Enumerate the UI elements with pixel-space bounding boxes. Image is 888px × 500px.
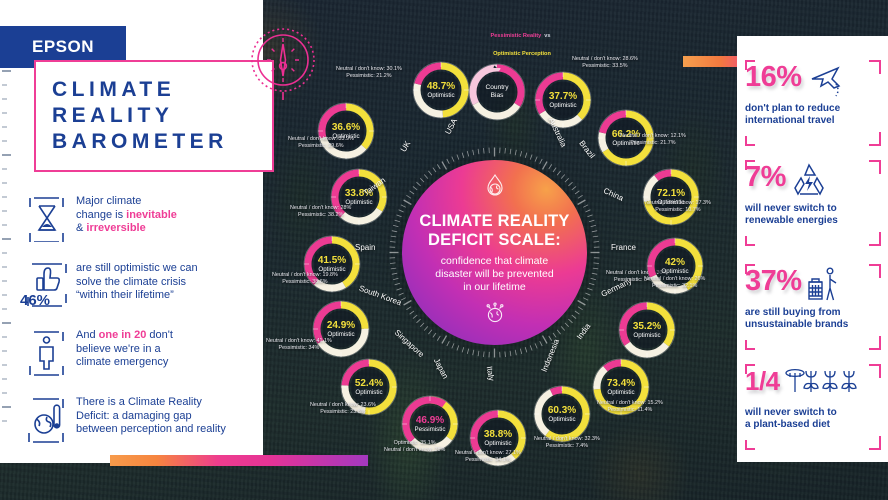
stat-value: 37% [745,264,802,298]
gauge-italy-stat-1: Neutral / don't know: 27.1% [455,450,521,456]
list-item-text: There is a Climate Reality Deficit: a da… [76,393,226,437]
list-item-text: Major climate change is inevitable & irr… [76,192,177,236]
stat-desc-line-1: don't plan to reduce [745,103,840,114]
gauge-uk-stats: Neutral / don't know: 33.9%Pessimistic: … [288,136,354,150]
gauge-southkorea-stats: Neutral / don't know: 41.1%Pessimistic: … [266,338,332,352]
gauge-usa-stat-2: Pessimistic: 21.2% [346,73,391,79]
list-item: And one in 20 don't believe we're in a c… [18,326,262,378]
list-item: Major climate change is inevitable & irr… [18,192,262,244]
gauge-china-stat-2: Pessimistic: 10.7% [655,207,700,213]
stat-value: 16% [745,60,802,94]
gauge-australia-stats: Neutral / don't know: 28.6%Pessimistic: … [572,56,638,70]
bullet4-line3: between perception and reality [76,423,226,435]
climate-reality-deficit-scale: CLIMATE REALITY DEFICIT SCALE: confidenc… [402,160,587,345]
gauge-uk-stat-2: Pessimistic: 29.6% [298,143,343,149]
gauge-brazil-stat-2: Pessimistic: 21.7% [630,140,675,146]
person-icon [18,326,76,378]
gauge-usa-stat-1: Neutral / don't know: 30.1% [336,66,402,72]
gauge-indonesia-stat-2: Pessimistic: 7.4% [546,443,588,449]
thumbs-up-icon: 46% [18,259,76,311]
title-line-3: BAROMETER [52,129,272,155]
stat-desc-line-2: international travel [745,115,834,126]
stat-description: will never switch to a plant-based diet [745,407,881,432]
title-line-2: REALITY [52,103,272,129]
page-title: CLIMATE REALITY BAROMETER [34,60,274,172]
gauge-spain-stats: Neutral / don't know: 19.8%Pessimistic: … [272,272,338,286]
stat-card-diet: 1/4 will never switch to a [745,364,881,450]
earth-flame-icon [484,174,506,205]
bullet1-line1: Major climate [76,195,141,207]
gauge-japan-stat-2: Neutral / don't know: 28% [384,447,445,453]
gauge-indonesia-stat-1: Neutral / don't know: 32.3% [534,436,600,442]
stat-desc-line-1: are still buying from [745,307,841,318]
stat-card-travel: 16% don't plan to reduce international t… [745,60,881,146]
bullet3-prefix: And [76,329,99,341]
list-item: There is a Climate Reality Deficit: a da… [18,393,262,445]
gauge-singapore-stats: Neutral / don't know: 23.6%Pessimistic: … [310,402,376,416]
gauge-france-country-label: France [611,243,636,252]
stat-desc-line-2: a plant-based diet [745,419,830,430]
gauge-india-stat-2: Pessimistic: 11.4% [607,407,652,413]
gauge-brazil-stats: Neutral / don't know: 12.1%Pessimistic: … [620,133,686,147]
earth-crown-icon [483,302,507,329]
gauge-taiwan-stat-2: Pessimistic: 38.2% [298,212,343,218]
gauge-taiwan-stat-1: Neutral / don't know: 28% [290,205,351,211]
gauge-singapore-stat-2: Pessimistic: 23.8% [320,409,365,415]
stat-value: 7% [745,160,786,194]
gradient-bar-bottom-left [110,455,368,466]
gauge-key: Country Bias [465,60,529,124]
center-subtitle-line-3: in our lifetime [463,281,525,294]
bullet2-line1: are still optimistic we can [76,262,198,274]
gauge-india-stats: Neutral / don't know: 15.2%Pessimistic: … [597,400,663,414]
stat-desc-line-1: will never switch to [745,203,837,214]
stat-card-energy: 7% will never switch to renewable energi… [745,160,881,246]
legend-optimistic-label: Optimistic Perception [493,51,551,58]
gauge-india-stat-1: Neutral / don't know: 15.2% [597,400,663,406]
bullet3-line2: believe we're in a [76,343,161,355]
airplane-icon [806,62,846,105]
center-title-line-2: DEFICIT SCALE: [428,231,561,250]
bullet3-suffix: don't [146,329,173,341]
gauge-uk-stat-1: Neutral / don't know: 33.9% [288,136,354,142]
center-title-line-1: CLIMATE REALITY [419,212,569,231]
gauge-usa[interactable]: 48.7% Optimistic [409,58,473,122]
gauge-spain-stat-1: Neutral / don't know: 19.8% [272,272,338,278]
gauge-france-stat-2: Pessimistic: 32.1% [652,283,697,289]
bullet3-highlight: one in 20 [99,329,147,341]
bullet1-highlight-1: inevitable [126,209,177,221]
plants-icon [784,366,860,405]
title-line-1: CLIMATE [52,77,272,103]
gauge-italy-stats: Neutral / don't know: 27.1%Pessimistic: … [455,450,521,464]
stat-desc-line-2: renewable energies [745,215,838,226]
thermometer-earth-icon [18,393,76,445]
gauge-france-stats: Neutral / don't know: 26%Pessimistic: 32… [644,276,705,290]
gauge-australia-stat-2: Pessimistic: 33.5% [582,63,627,69]
legend-vs-label: vs [544,33,550,40]
gauge-taiwan-stats: Neutral / don't know: 28%Pessimistic: 38… [290,205,351,219]
gauge-china-stat-1: Neutral / don't know: 17.3% [645,200,711,206]
left-panel: EPSON CLIMATE REALITY BAROMETER Ma [0,0,263,463]
epson-wordmark: EPSON [32,37,94,57]
stat-desc-line-2: unsustainable brands [745,319,848,330]
recycle-bolt-icon [790,162,828,203]
barometer-dial-icon [247,22,319,105]
key-findings-list: Major climate change is inevitable & irr… [18,192,262,460]
right-panel: 16% don't plan to reduce international t… [737,36,888,462]
gauge-australia[interactable]: 37.7% Optimistic [531,68,595,132]
gauge-spain-stat-2: Pessimistic: 38.6% [282,279,327,285]
stat-description: are still buying from unsustainable bran… [745,307,881,332]
chart-legend: Pessimistic RealityvsOptimistic Percepti… [462,28,582,64]
stat-card-brands: 37% are still buying from unsustainable … [745,264,881,350]
gauge-brazil-stat-1: Neutral / don't know: 12.1% [620,133,686,139]
gauge-southkorea-stat-2: Pessimistic: 34% [279,345,320,351]
stat-desc-line-1: will never switch to [745,407,837,418]
infographic-canvas: EPSON CLIMATE REALITY BAROMETER Ma [0,0,888,500]
ruler-ticks [0,70,12,450]
bullet4-line1: There is a Climate Reality [76,396,202,408]
stat-description: will never switch to renewable energies [745,203,881,228]
stat-description: don't plan to reduce international trave… [745,103,881,128]
litter-bin-icon [806,266,840,309]
gauge-germany[interactable]: 35.2% Optimistic [615,298,679,362]
bullet2-line3: “within their lifetime” [76,289,174,301]
gauge-italy-stat-2: Pessimistic: 34.1% [465,457,510,463]
bullet1-line3-prefix: & [76,222,86,234]
gauge-japan-stats: Optimistic: 35.1%Neutral / don't know: 2… [384,440,445,454]
bullet2-line2: solve the climate crisis [76,276,186,288]
gauge-japan-stat-1: Optimistic: 35.1% [394,440,436,446]
list-item-text: And one in 20 don't believe we're in a c… [76,326,173,370]
bullet1-line2-prefix: change is [76,209,126,221]
gauge-southkorea-stat-1: Neutral / don't know: 41.1% [266,338,332,344]
gauge-china[interactable]: 72.1% Optimistic [639,165,703,229]
gauge-china-stats: Neutral / don't know: 17.3%Pessimistic: … [645,200,711,214]
list-item-text: are still optimistic we can solve the cl… [76,259,198,303]
gauge-australia-stat-1: Neutral / don't know: 28.6% [572,56,638,62]
gauge-france-stat-1: Neutral / don't know: 26% [644,276,705,282]
gauge-spain-country-label: Spain [355,243,375,252]
bullet4-line2: Deficit: a damaging gap [76,410,192,422]
list-item: 46% are still optimistic we can solve th… [18,259,262,311]
hourglass-icon [18,192,76,244]
gauge-singapore-stat-1: Neutral / don't know: 23.6% [310,402,376,408]
gauge-usa-stats: Neutral / don't know: 30.1%Pessimistic: … [336,66,402,80]
center-subtitle-line-1: confidence that climate [441,255,548,268]
gauge-uk[interactable]: 36.6% Optimistic [314,99,378,163]
center-subtitle-line-2: disaster will be prevented [435,268,553,281]
stat-value: 1/4 [745,364,780,398]
gauge-spain[interactable]: 41.5% Optimistic [300,232,364,296]
legend-pessimistic-label: Pessimistic Reality [491,33,542,40]
bullet2-percent-badge: 46% [20,292,50,309]
bullet3-line3: climate emergency [76,356,168,368]
bullet1-highlight-2: irreversible [86,222,145,234]
gauge-indonesia-stats: Neutral / don't know: 32.3%Pessimistic: … [534,436,600,450]
